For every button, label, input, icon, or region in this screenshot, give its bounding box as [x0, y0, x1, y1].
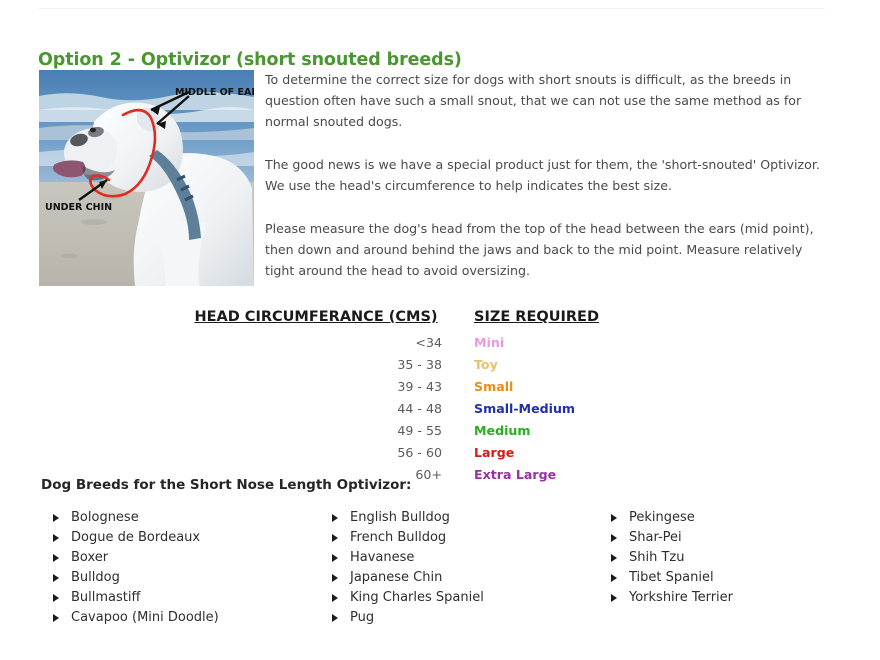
top-divider [38, 8, 825, 9]
measurement-photo: MIDDLE OF EAR UNDER CHIN [39, 70, 254, 286]
intro-paragraph-1: To determine the correct size for dogs w… [265, 69, 827, 132]
breed-list-item: Bullmastiff [41, 588, 320, 608]
size-chart-row: <34Mini [190, 334, 599, 356]
breeds-column-1: BologneseDogue de BordeauxBoxerBulldogBu… [41, 508, 320, 628]
size-chart-row: 49 - 55Medium [190, 422, 599, 444]
size-chart-row: 56 - 60Large [190, 444, 599, 466]
breed-list-item: Cavapoo (Mini Doodle) [41, 608, 320, 628]
size-required-value: Small [442, 378, 599, 400]
triangle-bullet-icon [332, 614, 338, 622]
breed-list-item: English Bulldog [320, 508, 599, 528]
size-range-value: 44 - 48 [190, 400, 442, 422]
breed-list-item: Boxer [41, 548, 320, 568]
breed-name: Cavapoo (Mini Doodle) [71, 610, 219, 625]
breed-list-item: Shih Tzu [599, 548, 733, 568]
breed-name: Yorkshire Terrier [629, 590, 733, 605]
breed-name: Japanese Chin [350, 570, 442, 585]
breed-name: Pekingese [629, 510, 695, 525]
breed-list-item: Japanese Chin [320, 568, 599, 588]
triangle-bullet-icon [332, 594, 338, 602]
breeds-list-1: BologneseDogue de BordeauxBoxerBulldogBu… [41, 508, 320, 628]
breed-name: Bulldog [71, 570, 120, 585]
size-required-value: Mini [442, 334, 599, 356]
bulldog-measurement-illustration: MIDDLE OF EAR UNDER CHIN [39, 70, 254, 286]
breed-list-item: French Bulldog [320, 528, 599, 548]
breed-name: Pug [350, 610, 374, 625]
triangle-bullet-icon [611, 514, 617, 522]
size-range-value: 49 - 55 [190, 422, 442, 444]
breed-name: Boxer [71, 550, 108, 565]
triangle-bullet-icon [53, 554, 59, 562]
breed-list-item: Havanese [320, 548, 599, 568]
breed-name: French Bulldog [350, 530, 446, 545]
triangle-bullet-icon [53, 534, 59, 542]
breeds-column-2: English BulldogFrench BulldogHavaneseJap… [320, 508, 599, 628]
size-chart-row: 35 - 38Toy [190, 356, 599, 378]
breeds-columns: BologneseDogue de BordeauxBoxerBulldogBu… [41, 508, 841, 628]
breed-name: Tibet Spaniel [629, 570, 714, 585]
breeds-column-3: PekingeseShar-PeiShih TzuTibet SpanielYo… [599, 508, 733, 628]
breeds-list-3: PekingeseShar-PeiShih TzuTibet SpanielYo… [599, 508, 733, 608]
breed-name: Bolognese [71, 510, 139, 525]
triangle-bullet-icon [53, 514, 59, 522]
size-range-value: 39 - 43 [190, 378, 442, 400]
breed-list-item: Tibet Spaniel [599, 568, 733, 588]
triangle-bullet-icon [332, 554, 338, 562]
breed-list-item: Pekingese [599, 508, 733, 528]
triangle-bullet-icon [611, 594, 617, 602]
size-range-value: 56 - 60 [190, 444, 442, 466]
size-range-value: <34 [190, 334, 442, 356]
size-required-value: Medium [442, 422, 599, 444]
breed-list-item: Yorkshire Terrier [599, 588, 733, 608]
triangle-bullet-icon [53, 574, 59, 582]
triangle-bullet-icon [611, 574, 617, 582]
size-chart-table: HEAD CIRCUMFERANCE (CMS) SIZE REQUIRED <… [190, 309, 599, 488]
breeds-section-title: Dog Breeds for the Short Nose Length Opt… [41, 477, 411, 493]
breed-name: Bullmastiff [71, 590, 140, 605]
breed-name: Dogue de Bordeaux [71, 530, 200, 545]
triangle-bullet-icon [332, 514, 338, 522]
size-required-value: Large [442, 444, 599, 466]
breed-name: Shar-Pei [629, 530, 682, 545]
page-title: Option 2 - Optivizor (short snouted bree… [38, 50, 462, 70]
column-header-head-circumference: HEAD CIRCUMFERANCE (CMS) [190, 309, 442, 334]
breed-name: English Bulldog [350, 510, 450, 525]
size-chart-header-row: HEAD CIRCUMFERANCE (CMS) SIZE REQUIRED [190, 309, 599, 334]
photo-label-middle-of-ear: MIDDLE OF EAR [175, 87, 254, 98]
size-range-value: 35 - 38 [190, 356, 442, 378]
breed-list-item: Pug [320, 608, 599, 628]
breed-list-item: Bolognese [41, 508, 320, 528]
triangle-bullet-icon [611, 534, 617, 542]
intro-paragraph-3: Please measure the dog's head from the t… [265, 218, 827, 281]
breed-list-item: Dogue de Bordeaux [41, 528, 320, 548]
size-required-value: Toy [442, 356, 599, 378]
breed-list-item: King Charles Spaniel [320, 588, 599, 608]
size-required-value: Small-Medium [442, 400, 599, 422]
intro-paragraph-2: The good news is we have a special produ… [265, 154, 827, 196]
breed-name: Shih Tzu [629, 550, 684, 565]
breed-name: King Charles Spaniel [350, 590, 484, 605]
size-chart-body: <34Mini35 - 38Toy39 - 43Small44 - 48Smal… [190, 334, 599, 488]
size-required-value: Extra Large [442, 466, 599, 488]
size-chart-row: 39 - 43Small [190, 378, 599, 400]
breed-list-item: Shar-Pei [599, 528, 733, 548]
triangle-bullet-icon [611, 554, 617, 562]
triangle-bullet-icon [332, 534, 338, 542]
breed-list-item: Bulldog [41, 568, 320, 588]
triangle-bullet-icon [53, 614, 59, 622]
size-chart-row: 44 - 48Small-Medium [190, 400, 599, 422]
triangle-bullet-icon [53, 594, 59, 602]
triangle-bullet-icon [332, 574, 338, 582]
intro-text: To determine the correct size for dogs w… [265, 69, 827, 281]
column-header-size-required: SIZE REQUIRED [442, 309, 599, 334]
breeds-list-2: English BulldogFrench BulldogHavaneseJap… [320, 508, 599, 628]
photo-label-under-chin: UNDER CHIN [45, 202, 112, 213]
breed-name: Havanese [350, 550, 414, 565]
